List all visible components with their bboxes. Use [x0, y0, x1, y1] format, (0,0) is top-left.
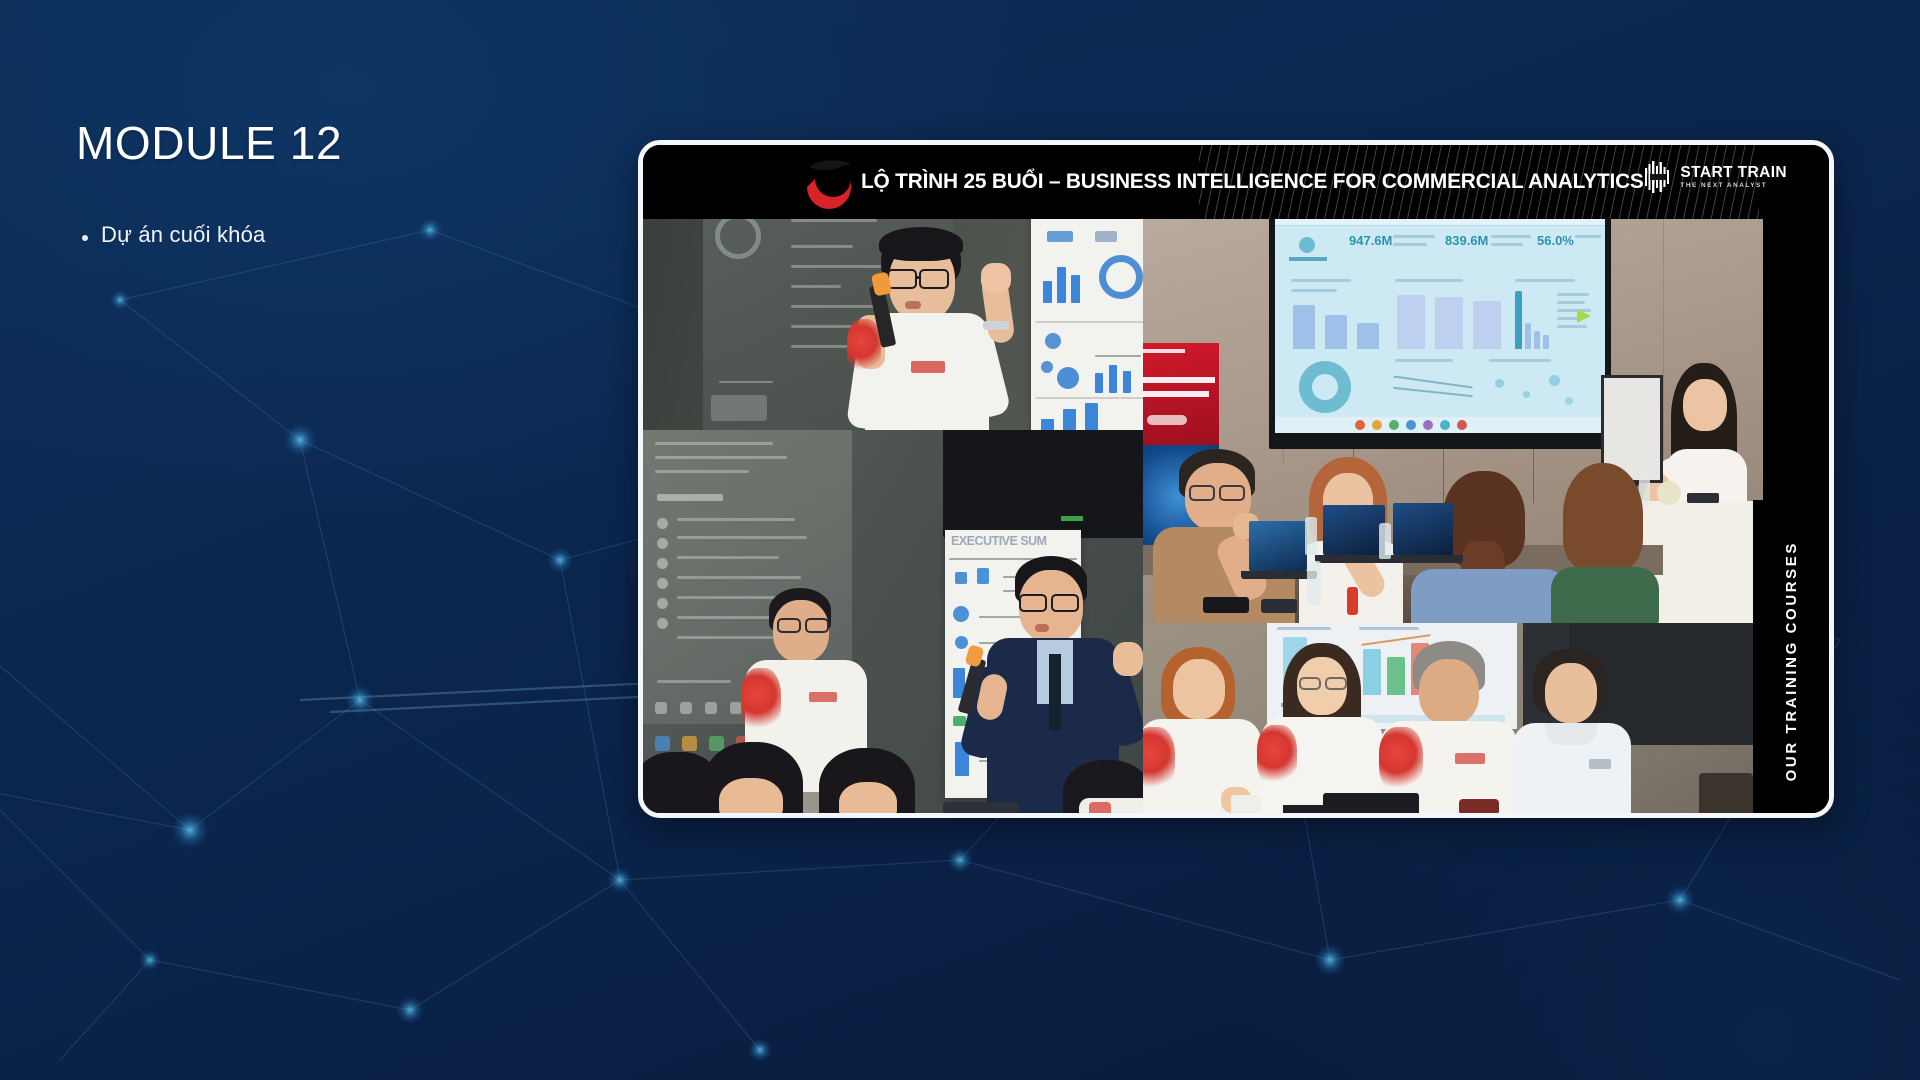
photo-bottom-left: EXECUTIVE SUM — [643, 430, 1143, 818]
roll-up-banner — [1143, 343, 1219, 445]
bullet-dot-icon — [82, 235, 88, 241]
photo-bottom-right — [1143, 623, 1763, 818]
photo-collage-frame: GROUP — [638, 140, 1834, 818]
bullet-item-label: Dự án cuối khóa — [101, 222, 266, 248]
vertical-section-label-text: OUR TRAINING COURSES — [1783, 541, 1800, 781]
bullet-list-item: Dự án cuối khóa — [82, 222, 266, 248]
brand-name: START TRAIN — [1680, 165, 1787, 181]
photo-top-right: 947.6M 839.6M 56.0% — [1143, 205, 1763, 623]
equalizer-bars-icon — [1645, 161, 1671, 193]
page-title: MODULE 12 — [76, 116, 342, 170]
slide-canvas: MODULE 12 Dự án cuối khóa — [0, 0, 1920, 1080]
arc-logo-icon — [803, 157, 859, 209]
brand-tagline: THE NEXT ANALYST — [1680, 183, 1787, 189]
collage-banner: LỘ TRÌNH 25 BUỔI – BUSINESS INTELLIGENCE… — [643, 145, 1829, 219]
brand-logo: START TRAIN THE NEXT ANALYST — [1645, 161, 1787, 193]
banner-title: LỘ TRÌNH 25 BUỔI – BUSINESS INTELLIGENCE… — [861, 169, 1644, 194]
vertical-section-label: OUR TRAINING COURSES — [1753, 500, 1829, 818]
